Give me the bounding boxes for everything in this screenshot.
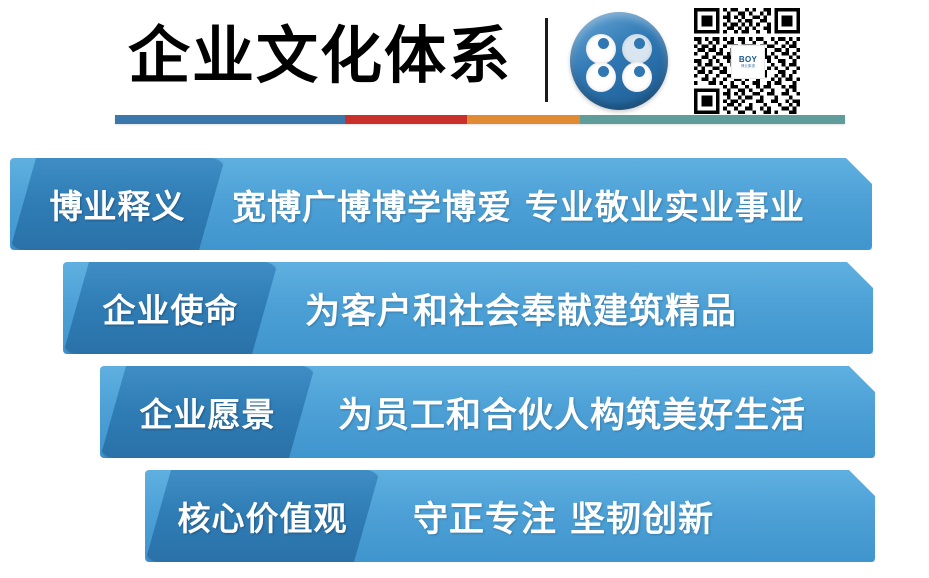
banner-tag[interactable]: 博业释义 — [10, 158, 225, 250]
banner-content-text: 宽博广博博学博爱 专业敬业实业事业 — [232, 158, 805, 250]
page-title: 企业文化体系 — [128, 12, 512, 100]
qr-brand-text: BOY — [739, 55, 757, 64]
logo-dot-4 — [622, 62, 652, 92]
company-logo — [570, 12, 668, 110]
banner-tag[interactable]: 企业愿景 — [100, 366, 315, 458]
color-rule-divider — [115, 115, 845, 124]
logo-dot-2 — [622, 34, 652, 64]
culture-banner-row[interactable]: 宽博广博博学博爱 专业敬业实业事业 博业释义 — [10, 158, 872, 250]
culture-banner-row[interactable]: 守正专注 坚韧创新 核心价值观 — [145, 470, 875, 562]
banner-content-text: 守正专注 坚韧创新 — [413, 470, 714, 562]
color-rule-segment-3 — [467, 115, 580, 124]
color-rule-segment-2 — [345, 115, 467, 124]
banner-tag-label: 博业释义 — [50, 180, 186, 228]
qr-center-logo: BOY 博业集团 — [731, 45, 765, 79]
banner-tag[interactable]: 核心价值观 — [145, 470, 380, 562]
culture-banner-row[interactable]: 为员工和合伙人构筑美好生活 企业愿景 — [100, 366, 875, 458]
title-divider — [545, 18, 548, 102]
color-rule-segment-1 — [115, 115, 345, 124]
banner-tag-label: 核心价值观 — [178, 492, 348, 540]
header: 企业文化体系 — [0, 0, 929, 150]
banner-tag[interactable]: 企业使命 — [63, 262, 278, 354]
banner-tag-label: 企业愿景 — [140, 388, 276, 436]
culture-banner-list: 宽博广博博学博爱 专业敬业实业事业 博业释义 为客户和社会奉献建筑精品 企业使命… — [0, 150, 929, 578]
color-rule-segment-4 — [580, 115, 845, 124]
qr-subtitle-text: 博业集团 — [741, 64, 755, 69]
logo-dot-3 — [586, 62, 616, 92]
logo-dot-1 — [586, 34, 616, 64]
banner-content-text: 为客户和社会奉献建筑精品 — [305, 262, 737, 354]
banner-content-text: 为员工和合伙人构筑美好生活 — [338, 366, 806, 458]
qr-code[interactable]: BOY 博业集团 — [694, 8, 800, 114]
culture-banner-row[interactable]: 为客户和社会奉献建筑精品 企业使命 — [63, 262, 873, 354]
banner-tag-label: 企业使命 — [103, 284, 239, 332]
